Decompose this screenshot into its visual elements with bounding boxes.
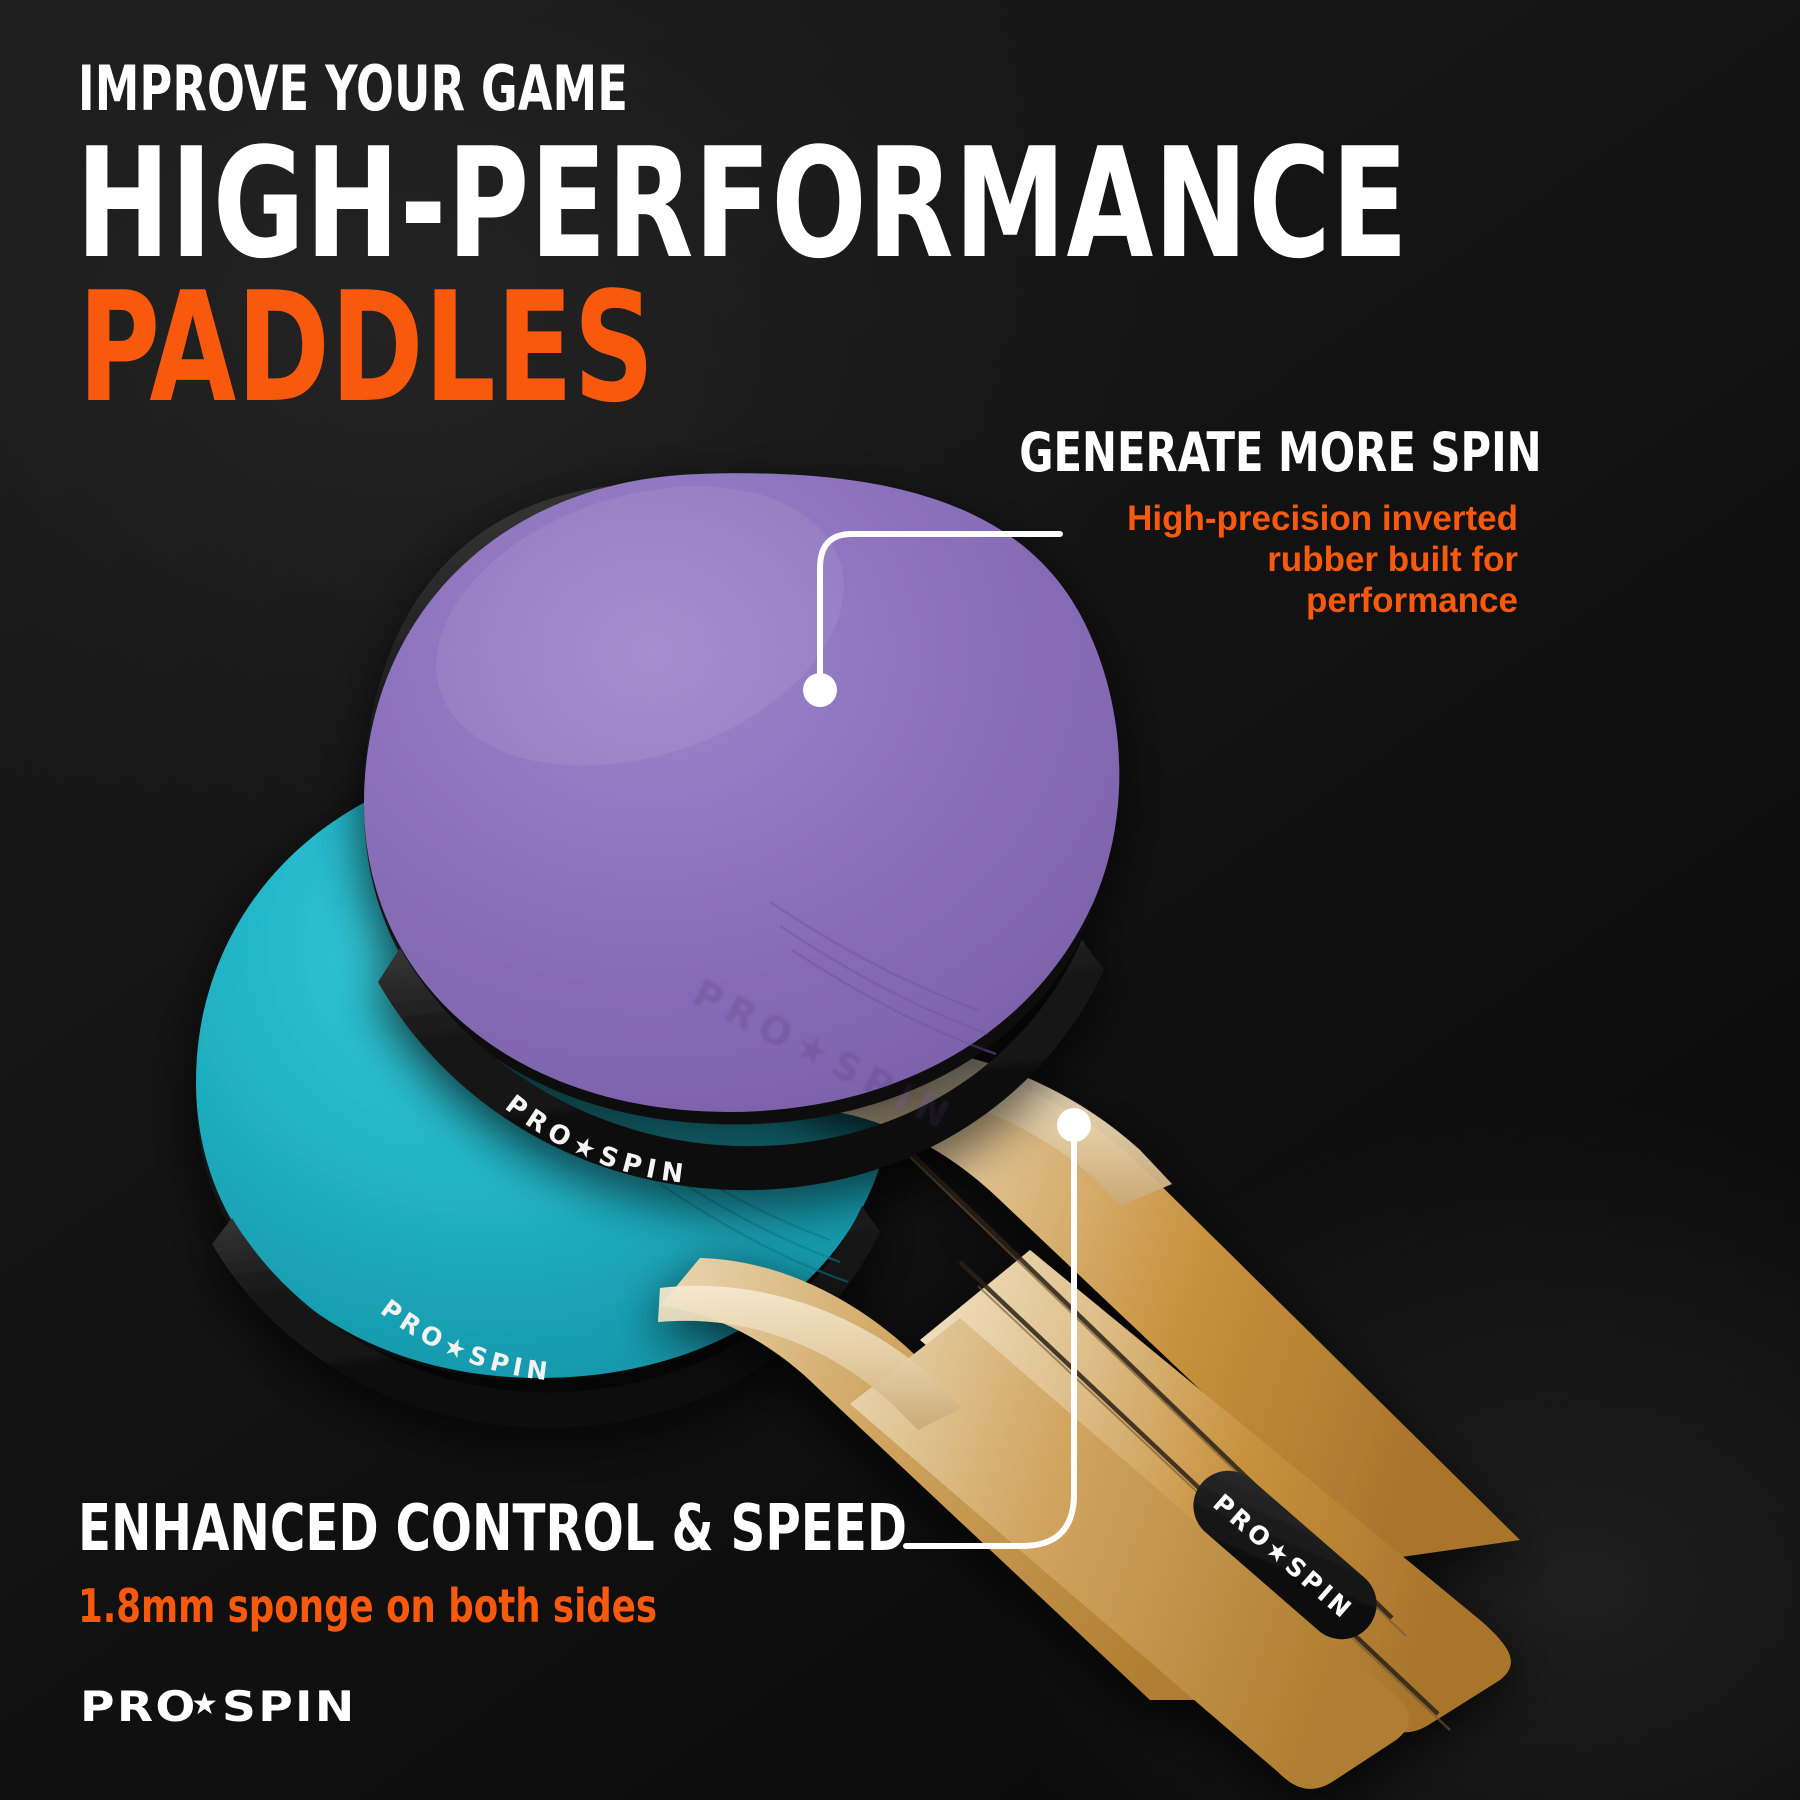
callout-spin-title: GENERATE MORE SPIN [1019, 425, 1518, 482]
callout-spin-body: High-precision inverted rubber built for… [938, 498, 1518, 622]
brand-logo-pro: PRO [80, 1682, 198, 1731]
eyebrow-text: IMPROVE YOUR GAME [78, 58, 628, 120]
callout-enhanced-control-speed: ENHANCED CONTROL & SPEED 1.8mm sponge on… [78, 1496, 938, 1632]
callout-control-title: ENHANCED CONTROL & SPEED [78, 1496, 800, 1563]
poster-canvas: PRO★SPIN [0, 0, 1800, 1800]
callout-generate-more-spin: GENERATE MORE SPIN High-precision invert… [938, 425, 1518, 622]
callout-spin-body-line2: rubber built for [938, 539, 1518, 580]
page-title-line2: PADDLES [78, 272, 655, 424]
callout-control-body: 1.8mm sponge on both sides [78, 1581, 818, 1632]
callout-spin-body-line1: High-precision inverted [938, 498, 1518, 539]
callout-spin-body-line3: performance [938, 580, 1518, 621]
brand-logo-spin: SPIN [222, 1682, 357, 1731]
page-title-line1: HIGH-PERFORMANCE [76, 128, 1409, 280]
brand-logo: PRO ★ SPIN [80, 1682, 342, 1731]
star-icon: ★ [191, 1687, 220, 1722]
